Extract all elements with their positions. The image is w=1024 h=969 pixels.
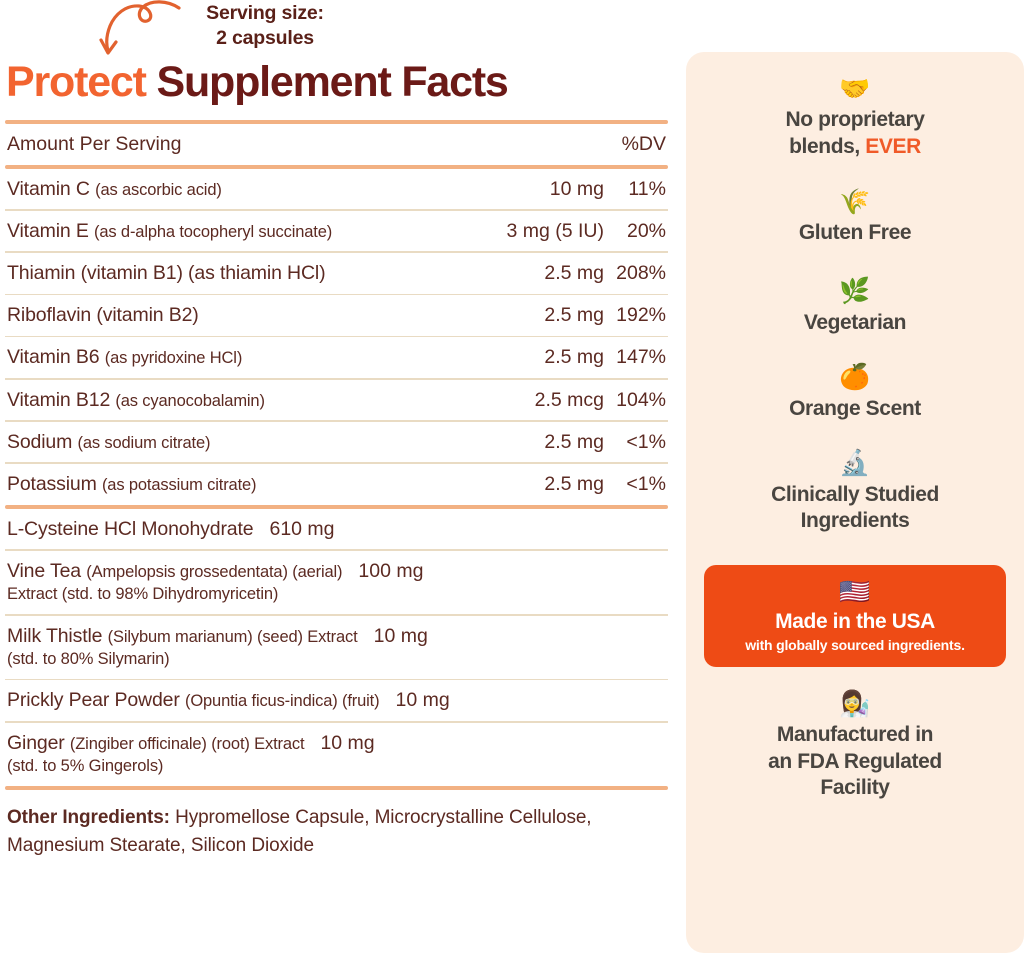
supplement-facts-page: Serving size: 2 capsules Protect Supplem… bbox=[0, 0, 1024, 969]
ingredient-name: Ginger (Zingiber officinale) (root) Extr… bbox=[7, 732, 312, 777]
ingredient-amount: 10 mg bbox=[366, 625, 494, 648]
table-row: Thiamin (vitamin B1) (as thiamin HCl)2.5… bbox=[5, 253, 668, 294]
table-row: Vine Tea (Ampelopsis grossedentata) (aer… bbox=[5, 551, 668, 614]
table-row: Sodium (as sodium citrate)2.5 mg<1% bbox=[5, 422, 668, 463]
percent-dv-label: %DV bbox=[604, 133, 666, 156]
ingredient-name: Vitamin C (as ascorbic acid) bbox=[7, 178, 484, 201]
badge-spacer bbox=[704, 535, 1006, 557]
ingredient-amount: 2.5 mg bbox=[484, 262, 604, 285]
ingredient-source: (as d-alpha tocopheryl succinate) bbox=[94, 223, 332, 241]
table-header-row: Amount Per Serving %DV bbox=[5, 124, 668, 165]
ingredient-source: (as ascorbic acid) bbox=[95, 181, 222, 199]
serving-size-value: 2 capsules bbox=[175, 26, 355, 51]
ingredient-amount: 2.5 mg bbox=[484, 346, 604, 369]
usa-flag-icon: 🇺🇸 bbox=[714, 577, 996, 608]
table-row: Ginger (Zingiber officinale) (root) Extr… bbox=[5, 723, 668, 786]
ingredient-amount: 100 mg bbox=[350, 560, 478, 583]
table-row: Prickly Pear Powder (Opuntia ficus-indic… bbox=[5, 680, 668, 721]
ingredient-amount: 2.5 mcg bbox=[484, 389, 604, 412]
ingredient-dv: 104% bbox=[604, 389, 666, 412]
made-in-usa-subtitle: with globally sourced ingredients. bbox=[714, 637, 996, 653]
table-row: Vitamin B12 (as cyanocobalamin)2.5 mcg10… bbox=[5, 380, 668, 421]
herb-leaf-icon: 🌿 bbox=[704, 276, 1006, 307]
handshake-icon: 🤝 bbox=[704, 74, 1006, 105]
ingredient-dv: <1% bbox=[604, 431, 666, 454]
scientist-icon: 👩‍🔬 bbox=[704, 689, 1006, 720]
ingredient-source: (Silybum marianum) (seed) Extract bbox=[108, 628, 358, 646]
benefit-badge: 🍊Orange Scent bbox=[704, 362, 1006, 422]
table-row: Potassium (as potassium citrate)2.5 mg<1… bbox=[5, 464, 668, 505]
ingredient-source: (as sodium citrate) bbox=[78, 434, 211, 452]
badge-accent-word: EVER bbox=[865, 135, 921, 158]
ingredient-dv: 192% bbox=[604, 304, 666, 327]
orange-fruit-icon: 🍊 bbox=[704, 362, 1006, 393]
badge-spacer bbox=[704, 422, 1006, 448]
ingredient-dv: 208% bbox=[604, 262, 666, 285]
page-title: Protect Supplement Facts bbox=[6, 60, 668, 106]
made-in-usa-title: Made in the USA bbox=[714, 609, 996, 636]
badge-spacer bbox=[704, 336, 1006, 362]
ingredient-name: Riboflavin (vitamin B2) bbox=[7, 304, 484, 327]
ingredient-amount: 10 mg bbox=[312, 732, 440, 755]
ingredient-name: Thiamin (vitamin B1) (as thiamin HCl) bbox=[7, 262, 484, 285]
table-row: Milk Thistle (Silybum marianum) (seed) E… bbox=[5, 616, 668, 679]
ingredient-name: Vitamin B6 (as pyridoxine HCl) bbox=[7, 346, 484, 369]
curly-arrow-icon bbox=[93, 0, 183, 56]
benefit-badge-label: Orange Scent bbox=[704, 396, 1006, 423]
table-row: Vitamin C (as ascorbic acid)10 mg11% bbox=[5, 169, 668, 210]
ingredient-dv: 20% bbox=[604, 220, 666, 243]
table-row: Vitamin B6 (as pyridoxine HCl)2.5 mg147% bbox=[5, 337, 668, 378]
benefit-badge: 🔬Clinically StudiedIngredients bbox=[704, 448, 1006, 535]
badge-spacer bbox=[704, 161, 1006, 187]
serving-size-text: Serving size: 2 capsules bbox=[175, 1, 355, 51]
title-accent-word: Protect bbox=[6, 58, 146, 106]
table-row: L-Cysteine HCl Monohydrate610 mg bbox=[5, 509, 668, 550]
ingredient-name: Vitamin E (as d-alpha tocopheryl succina… bbox=[7, 220, 484, 243]
ingredient-source: Extract (std. to 98% Dihydromyricetin) bbox=[7, 585, 278, 603]
ingredient-amount: 2.5 mg bbox=[484, 473, 604, 496]
benefit-badge-label: Vegetarian bbox=[704, 310, 1006, 337]
ingredient-amount: 2.5 mg bbox=[484, 304, 604, 327]
badge-spacer bbox=[704, 667, 1006, 689]
ingredient-source: (Zingiber officinale) (root) Extract bbox=[70, 735, 305, 753]
ingredient-amount: 3 mg (5 IU) bbox=[484, 220, 604, 243]
made-in-usa-card: 🇺🇸Made in the USAwith globally sourced i… bbox=[704, 565, 1006, 667]
benefit-badge-label: No proprietaryblends, EVER bbox=[704, 107, 1006, 160]
microscope-icon: 🔬 bbox=[704, 448, 1006, 479]
supplement-facts-table: Serving size: 2 capsules Protect Supplem… bbox=[5, 0, 668, 969]
title-rest: Supplement Facts bbox=[146, 58, 508, 106]
ingredient-source: (Ampelopsis grossedentata) (aerial) bbox=[86, 563, 342, 581]
benefit-badge: 🌾Gluten Free bbox=[704, 187, 1006, 247]
fda-facility-badge: 👩‍🔬Manufactured inan FDA RegulatedFacili… bbox=[704, 689, 1006, 802]
ingredient-source: (std. to 5% Gingerols) bbox=[7, 757, 163, 775]
table-row: Vitamin E (as d-alpha tocopheryl succina… bbox=[5, 211, 668, 252]
benefit-badges-group: 🤝No proprietaryblends, EVER🌾Gluten Free🌿… bbox=[704, 74, 1006, 802]
ingredient-name: Sodium (as sodium citrate) bbox=[7, 431, 484, 454]
ingredient-dv: 11% bbox=[604, 178, 666, 201]
ingredient-name: Potassium (as potassium citrate) bbox=[7, 473, 484, 496]
ingredient-name: Prickly Pear Powder (Opuntia ficus-indic… bbox=[7, 689, 387, 712]
ingredient-source: (as pyridoxine HCl) bbox=[105, 349, 242, 367]
ingredient-dv: <1% bbox=[604, 473, 666, 496]
serving-size-label: Serving size: bbox=[175, 1, 355, 26]
ingredient-source: (as cyanocobalamin) bbox=[115, 392, 264, 410]
ingredient-source: (Opuntia ficus-indica) (fruit) bbox=[185, 692, 379, 710]
amount-per-serving-label: Amount Per Serving bbox=[7, 133, 604, 156]
vitamin-rows-group: Vitamin C (as ascorbic acid)10 mg11%Vita… bbox=[5, 169, 668, 505]
ingredient-dv: 147% bbox=[604, 346, 666, 369]
other-ingredients: Other Ingredients: Hypromellose Capsule,… bbox=[5, 790, 668, 860]
ingredient-name: L-Cysteine HCl Monohydrate bbox=[7, 518, 261, 541]
grain-icon: 🌾 bbox=[704, 187, 1006, 218]
ingredient-name: Vitamin B12 (as cyanocobalamin) bbox=[7, 389, 484, 412]
botanical-rows-group: L-Cysteine HCl Monohydrate610 mgVine Tea… bbox=[5, 509, 668, 786]
badge-spacer bbox=[704, 246, 1006, 276]
ingredient-amount: 610 mg bbox=[261, 518, 389, 541]
fda-facility-label: Manufactured inan FDA RegulatedFacility bbox=[704, 722, 1006, 802]
benefit-badge: 🌿Vegetarian bbox=[704, 276, 1006, 336]
benefits-panel: 🤝No proprietaryblends, EVER🌾Gluten Free🌿… bbox=[686, 52, 1024, 953]
benefit-badge-label: Clinically StudiedIngredients bbox=[704, 482, 1006, 535]
benefit-badge-label: Gluten Free bbox=[704, 220, 1006, 247]
ingredient-name: Vine Tea (Ampelopsis grossedentata) (aer… bbox=[7, 560, 350, 605]
other-ingredients-label: Other Ingredients: bbox=[7, 807, 170, 828]
ingredient-amount: 2.5 mg bbox=[484, 431, 604, 454]
ingredient-amount: 10 mg bbox=[484, 178, 604, 201]
ingredient-amount: 10 mg bbox=[387, 689, 515, 712]
ingredient-name: Milk Thistle (Silybum marianum) (seed) E… bbox=[7, 625, 366, 670]
table-row: Riboflavin (vitamin B2)2.5 mg192% bbox=[5, 295, 668, 336]
ingredient-source: (std. to 80% Silymarin) bbox=[7, 650, 170, 668]
ingredient-source: (as potassium citrate) bbox=[102, 476, 256, 494]
benefit-badge: 🤝No proprietaryblends, EVER bbox=[704, 74, 1006, 161]
serving-size-callout: Serving size: 2 capsules bbox=[5, 0, 668, 56]
